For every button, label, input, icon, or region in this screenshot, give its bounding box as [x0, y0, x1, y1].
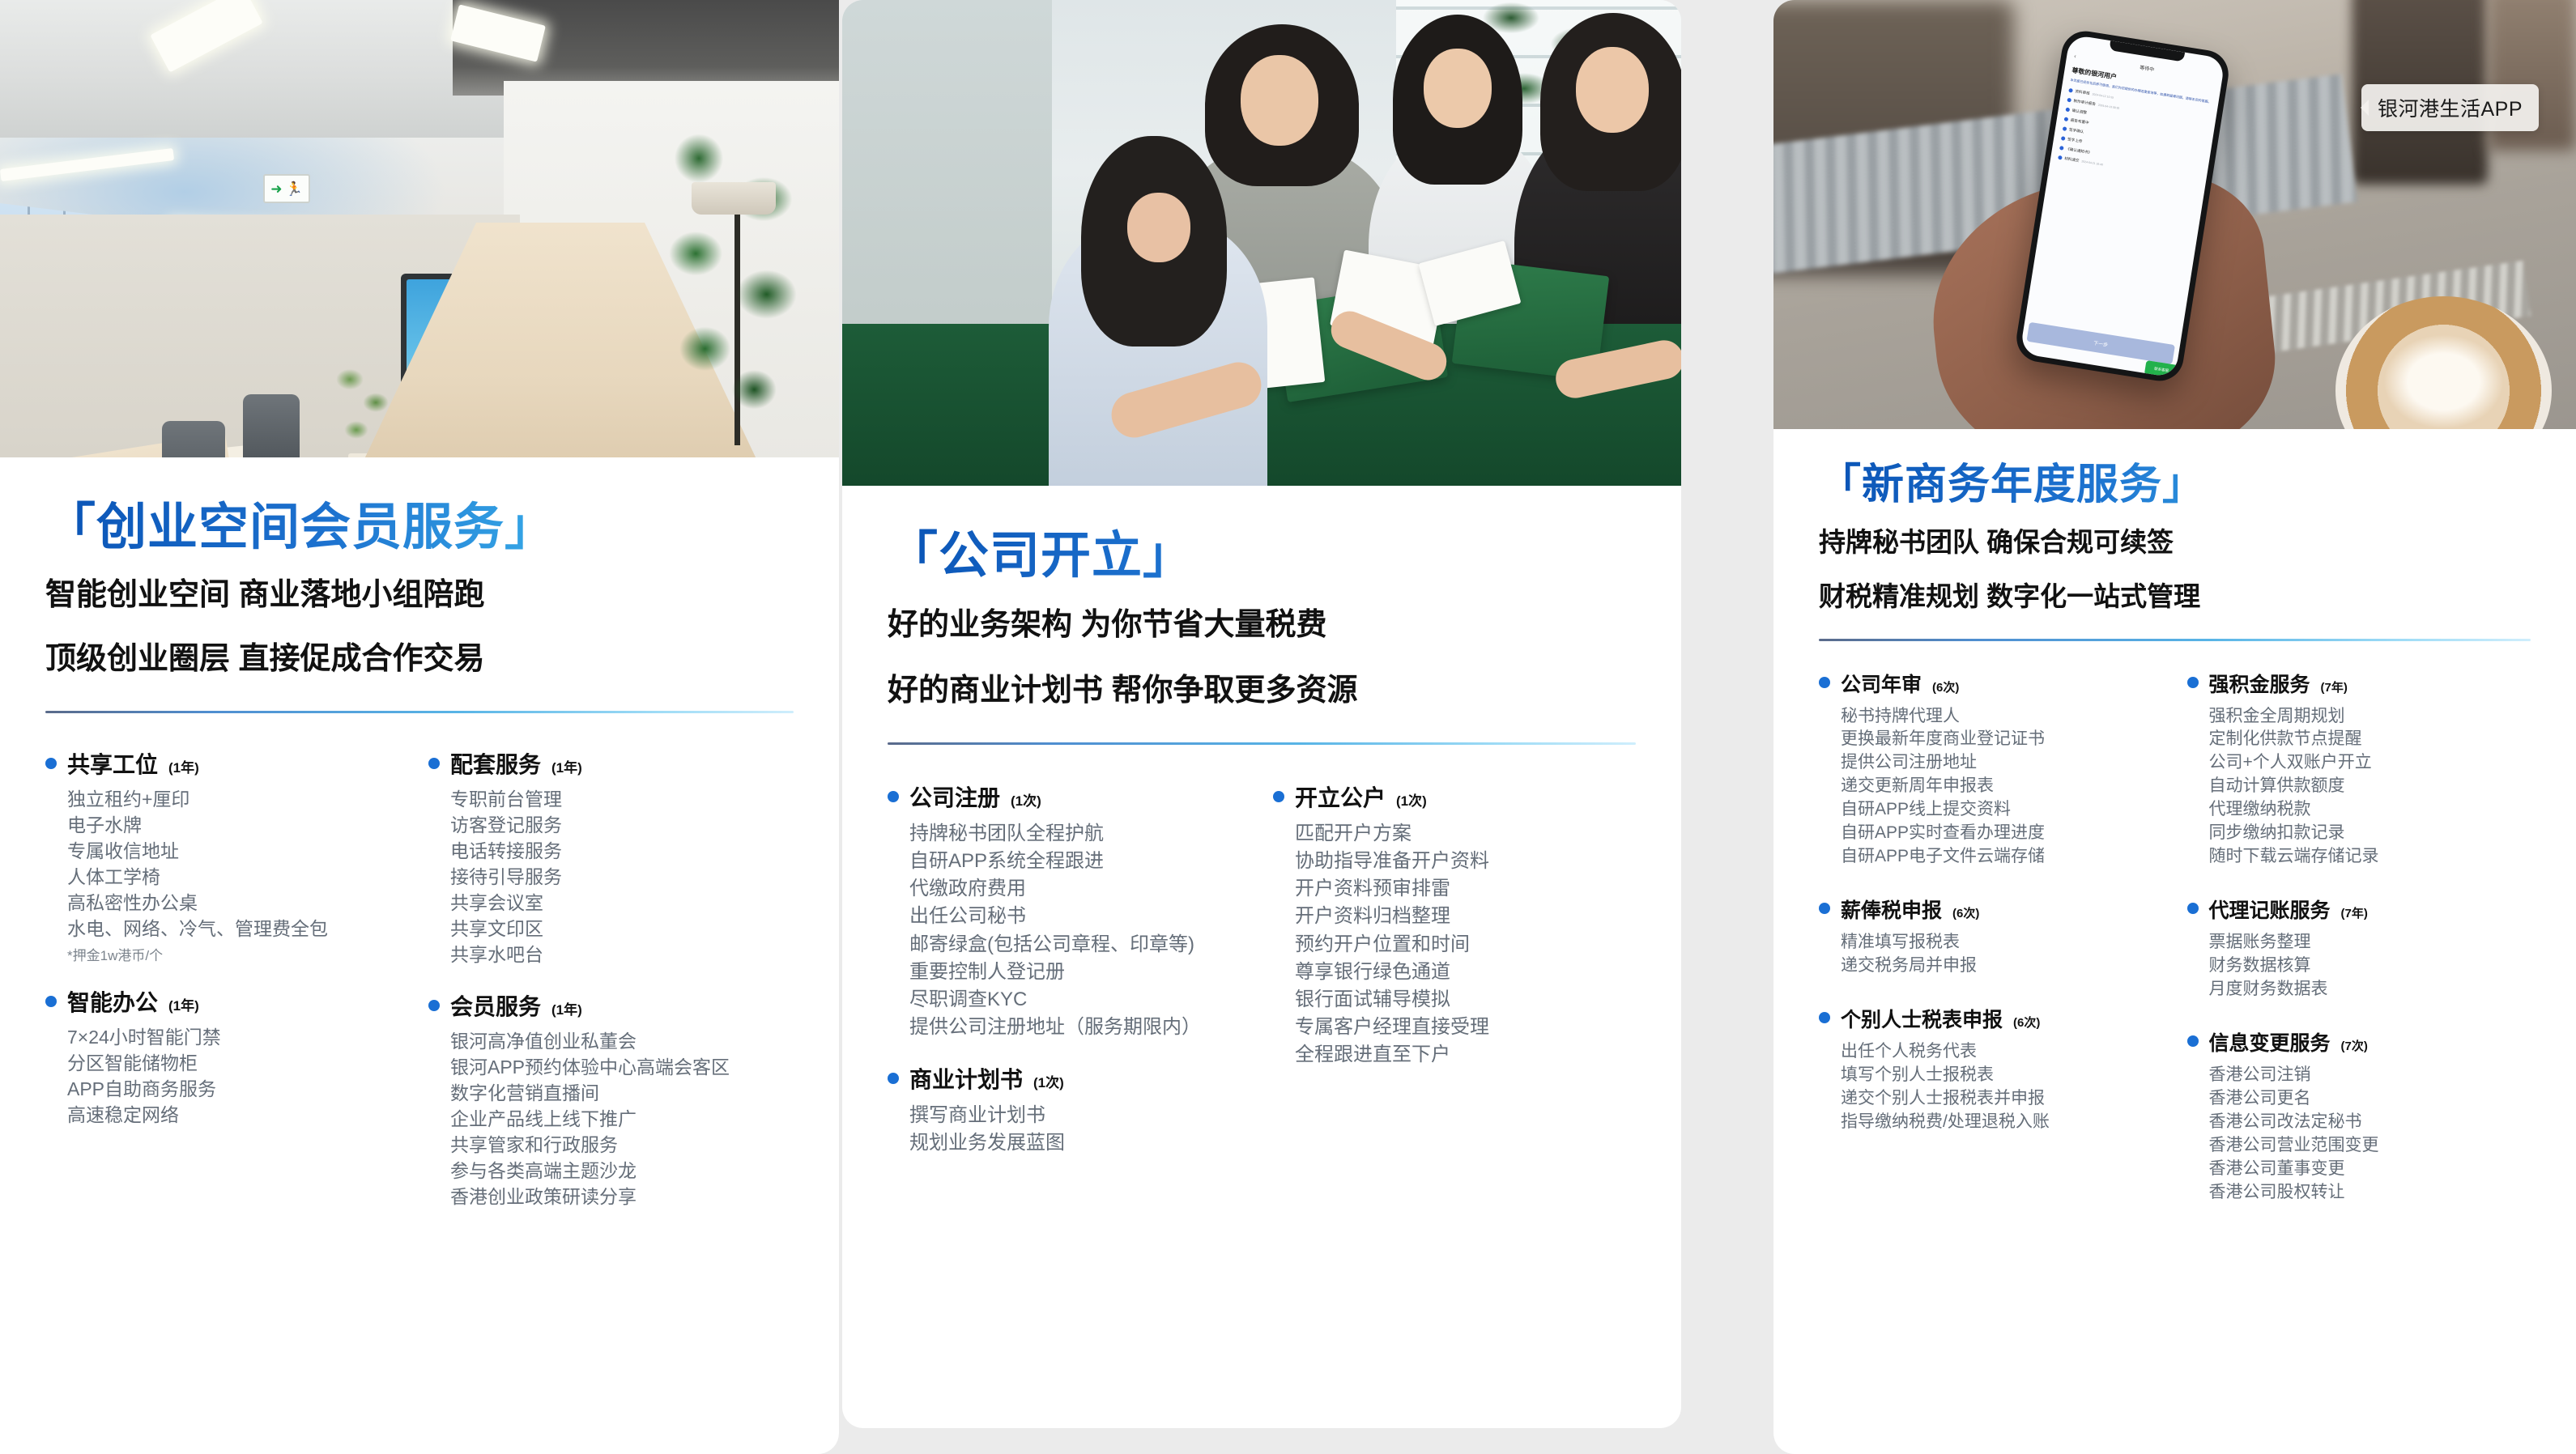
list-item: 精准填写报税表 — [1841, 931, 2163, 954]
phone-notch — [2109, 40, 2185, 62]
person-face — [1127, 193, 1190, 262]
list-item: 开户资料归档整理 — [1295, 903, 1636, 930]
list-item: 开户资料预审排雷 — [1295, 875, 1636, 903]
step-dot-icon — [2059, 146, 2064, 151]
list-item: 自动计算供款额度 — [2209, 775, 2531, 798]
card-subtitle-line-1: 持牌秘书团队 确保合规可续签 — [1819, 521, 2531, 563]
large-plant — [653, 97, 807, 437]
list-item: 银河高净值创业私董会 — [450, 1029, 794, 1055]
list-item: 尊享银行绿色通道 — [1295, 959, 1636, 986]
list-item: 预约开户位置和时间 — [1295, 931, 1636, 959]
group-items: 票据账务整理 财务数据核算 月度财务数据表 — [2187, 931, 2531, 1001]
card-subtitle-line-2: 财税精准规划 数字化一站式管理 — [1819, 576, 2531, 617]
step-label: 《确认通知书》 — [2066, 147, 2093, 155]
step-label: 报告布置中 — [2070, 117, 2089, 125]
group-items: 独立租约+厘印 电子水牌 专属收信地址 人体工学椅 高私密性办公桌 水电、网络、… — [45, 787, 411, 964]
bullet-dot-icon — [1819, 677, 1830, 688]
service-group: 公司年审 (6次) 秘书持牌代理人 更换最新年度商业登记证书 提供公司注册地址 … — [1819, 669, 2163, 869]
list-item: 企业产品线上线下推广 — [450, 1107, 794, 1133]
group-header: 信息变更服务 (7次) — [2187, 1027, 2531, 1056]
service-group: 薪俸税申报 (6次) 精准填写报税表 递交税务局并申报 — [1819, 895, 2163, 978]
large-plant-pot — [692, 182, 776, 215]
group-header: 会员服务 (1年) — [428, 989, 794, 1022]
group-items: 撰写商业计划书 规划业务发展蓝图 — [888, 1102, 1250, 1157]
step-dot-icon — [2063, 126, 2067, 131]
phone-support-button[interactable]: 联系客服 — [2144, 360, 2178, 378]
card-subtitle-line-2: 顶级创业圈层 直接促成合作交易 — [45, 636, 794, 683]
list-item: 高私密性办公桌 — [67, 891, 411, 916]
step-dot-icon — [2061, 136, 2066, 141]
card-title: 「创业空间会员服务」 — [45, 500, 794, 555]
list-item: 银河APP预约体验中心高端会客区 — [450, 1055, 794, 1081]
step-label: 签字确认 — [2069, 127, 2084, 134]
light-tube — [0, 148, 174, 181]
group-title: 公司年审 — [1841, 669, 1922, 698]
bullet-dot-icon — [1819, 1012, 1830, 1023]
list-item: 匹配开户方案 — [1295, 820, 1636, 848]
list-item: 香港公司股权转让 — [2209, 1181, 2531, 1205]
service-group: 信息变更服务 (7次) 香港公司注销 香港公司更名 香港公司改法定秘书 香港公司… — [2187, 1027, 2531, 1205]
list-item: 高速稳定网络 — [67, 1103, 411, 1129]
group-header: 共享工位 (1年) — [45, 747, 411, 780]
step-dot-icon — [2064, 117, 2069, 121]
group-header: 公司注册 (1次) — [888, 780, 1250, 813]
group-header: 强积金服务 (7年) — [2187, 669, 2531, 698]
cafe-photo-illustration: ‹ 等待中 尊敬的银河用户 本页面已经优化后即可使用，我们为您提供的办理进度查询… — [1773, 0, 2576, 429]
card-subtitle-line-1: 智能创业空间 商业落地小组陪跑 — [45, 572, 794, 619]
list-item: 分区智能储物柜 — [67, 1051, 411, 1077]
bullet-dot-icon — [428, 758, 440, 769]
list-item: 水电、网络、冷气、管理费全包 — [67, 916, 411, 942]
service-group: 商业计划书 (1次) 撰写商业计划书 规划业务发展蓝图 — [888, 1062, 1250, 1157]
list-item: 票据账务整理 — [2209, 931, 2531, 954]
group-title: 商业计划书 — [909, 1062, 1023, 1095]
list-item: 共享会议室 — [450, 891, 794, 916]
groups-column-left: 公司注册 (1次) 持牌秘书团队全程护航 自研APP系统全程跟进 代缴政府费用 … — [888, 780, 1250, 1178]
step-time: 2024-04-21 16:40 — [2081, 159, 2103, 166]
groups-column-right: 强积金服务 (7年) 强积金全周期规划 定制化供款节点提醒 公司+个人双账户开立… — [2187, 669, 2531, 1231]
bullet-dot-icon — [45, 758, 57, 769]
service-groups-grid: 共享工位 (1年) 独立租约+厘印 电子水牌 专属收信地址 人体工学椅 高私密性… — [45, 747, 794, 1231]
person-face — [1241, 55, 1318, 146]
group-count: (1年) — [168, 756, 199, 776]
bullet-dot-icon — [2187, 1035, 2199, 1047]
group-title: 强积金服务 — [2209, 669, 2310, 698]
group-header: 开立公户 (1次) — [1273, 780, 1636, 813]
step-label: 制作审计报告 — [2073, 98, 2096, 106]
list-item: 香港公司营业范围变更 — [2209, 1134, 2531, 1158]
section-divider — [888, 742, 1636, 745]
card-photo-team-documents — [842, 0, 1681, 486]
group-header: 商业计划书 (1次) — [888, 1062, 1250, 1095]
bullet-dot-icon — [1819, 903, 1830, 914]
list-item: 自研APP线上提交资料 — [1841, 798, 2163, 822]
list-item: 专职前台管理 — [450, 787, 794, 813]
group-title: 开立公户 — [1295, 780, 1386, 813]
card-photo-phone-app: ‹ 等待中 尊敬的银河用户 本页面已经优化后即可使用，我们为您提供的办理进度查询… — [1773, 0, 2576, 429]
list-item: 共享水吧台 — [450, 942, 794, 968]
section-divider — [1819, 639, 2531, 641]
list-item: 代缴政府费用 — [909, 875, 1250, 903]
list-item: 自研APP系统全程跟进 — [909, 848, 1250, 875]
step-time: 2024-04-12 10:15 — [2092, 92, 2114, 99]
bullet-dot-icon — [1273, 791, 1284, 802]
group-items: 持牌秘书团队全程护航 自研APP系统全程跟进 代缴政府费用 出任公司秘书 邮寄绿… — [888, 820, 1250, 1041]
list-item: 自研APP实时查看办理进度 — [1841, 822, 2163, 845]
list-item: 同步缴纳扣款记录 — [2209, 822, 2531, 845]
service-group: 个别人士税表申报 (6次) 出任个人税务代表 填写个别人士报税表 递交个别人士报… — [1819, 1004, 2163, 1134]
group-header: 薪俸税申报 (6次) — [1819, 895, 2163, 924]
service-card-company-incorporation: 「公司开立」 好的业务架构 为你节省大量税费 好的商业计划书 帮你争取更多资源 … — [842, 0, 1681, 1428]
service-group: 代理记账服务 (7年) 票据账务整理 财务数据核算 月度财务数据表 — [2187, 895, 2531, 1001]
list-item: 公司+个人双账户开立 — [2209, 751, 2531, 775]
group-items: 香港公司注销 香港公司更名 香港公司改法定秘书 香港公司营业范围变更 香港公司董… — [2187, 1064, 2531, 1205]
list-item: 递交税务局并申报 — [1841, 954, 2163, 978]
group-header: 个别人士税表申报 (6次) — [1819, 1004, 2163, 1033]
group-items: 秘书持牌代理人 更换最新年度商业登记证书 提供公司注册地址 递交更新周年申报表 … — [1819, 705, 2163, 869]
group-count: (6次) — [2013, 1014, 2040, 1031]
list-item: 持牌秘书团队全程护航 — [909, 820, 1250, 848]
list-item: 参与各类高端主题沙龙 — [450, 1159, 794, 1184]
list-item: 银行面试辅导模拟 — [1295, 986, 1636, 1014]
list-item: 自研APP电子文件云端存储 — [1841, 845, 2163, 869]
list-item: 提供公司注册地址 — [1841, 751, 2163, 775]
group-count: (7年) — [2321, 678, 2348, 695]
group-header: 公司年审 (6次) — [1819, 669, 2163, 698]
card-subtitle-line-1: 好的业务架构 为你节省大量税费 — [888, 602, 1636, 649]
service-group: 智能办公 (1年) 7×24小时智能门禁 分区智能储物柜 APP自助商务服务 高… — [45, 985, 411, 1129]
step-label: 材料递交 — [2064, 156, 2080, 164]
list-item: 协助指导准备开户资料 — [1295, 848, 1636, 875]
back-icon[interactable]: ‹ — [2074, 53, 2076, 59]
service-groups-grid: 公司注册 (1次) 持牌秘书团队全程护航 自研APP系统全程跟进 代缴政府费用 … — [888, 780, 1636, 1178]
step-label: 确认调整 — [2071, 108, 2087, 115]
list-item: 重要控制人登记册 — [909, 959, 1250, 986]
group-count: (1次) — [1033, 1071, 1064, 1091]
list-item: 共享管家和行政服务 — [450, 1133, 794, 1159]
list-item: 撰写商业计划书 — [909, 1102, 1250, 1129]
group-header: 智能办公 (1年) — [45, 985, 411, 1018]
group-title: 代理记账服务 — [2209, 895, 2331, 924]
group-note: *押金1w港币/个 — [67, 944, 411, 964]
list-item: 香港公司董事变更 — [2209, 1158, 2531, 1181]
list-item: 7×24小时智能门禁 — [67, 1025, 411, 1051]
list-item: 电子水牌 — [67, 813, 411, 839]
groups-column-left: 公司年审 (6次) 秘书持牌代理人 更换最新年度商业登记证书 提供公司注册地址 … — [1819, 669, 2163, 1231]
group-count: (1年) — [551, 756, 582, 776]
list-item: 随时下载云端存储记录 — [2209, 845, 2531, 869]
group-count: (1次) — [1396, 789, 1427, 810]
step-dot-icon — [2065, 108, 2070, 113]
group-title: 个别人士税表申报 — [1841, 1004, 2003, 1033]
group-title: 薪俸税申报 — [1841, 895, 1942, 924]
card-body: 「新商务年度服务」 持牌秘书团队 确保合规可续签 财税精准规划 数字化一站式管理… — [1773, 429, 2576, 1231]
group-title: 配套服务 — [450, 747, 541, 780]
service-group: 会员服务 (1年) 银河高净值创业私董会 银河APP预约体验中心高端会客区 数字… — [428, 989, 794, 1210]
list-item: 数字化营销直播间 — [450, 1081, 794, 1107]
group-items: 专职前台管理 访客登记服务 电话转接服务 接待引导服务 共享会议室 共享文印区 … — [428, 787, 794, 968]
group-count: (1次) — [1011, 789, 1041, 810]
list-item: 月度财务数据表 — [2209, 978, 2531, 1001]
groups-column-right: 配套服务 (1年) 专职前台管理 访客登记服务 电话转接服务 接待引导服务 共享… — [428, 747, 794, 1231]
phone-primary-button[interactable]: 下一步 — [2026, 322, 2175, 364]
list-item: 访客登记服务 — [450, 813, 794, 839]
step-label: 资料审核 — [2075, 89, 2090, 96]
exit-sign-icon: ➜🏃 — [263, 174, 310, 203]
left-wall — [842, 0, 1052, 340]
group-count: (7次) — [2341, 1037, 2368, 1054]
step-dot-icon — [2067, 98, 2071, 103]
group-header: 代理记账服务 (7年) — [2187, 895, 2531, 924]
list-item: 香港公司改法定秘书 — [2209, 1111, 2531, 1134]
person-face — [1576, 47, 1649, 133]
service-card-new-business-annual: ‹ 等待中 尊敬的银河用户 本页面已经优化后即可使用，我们为您提供的办理进度查询… — [1773, 0, 2576, 1454]
groups-column-left: 共享工位 (1年) 独立租约+厘印 电子水牌 专属收信地址 人体工学椅 高私密性… — [45, 747, 411, 1231]
card-photo-office: ➜🏃 16:32 2024年6月 星期三 — [0, 0, 839, 457]
list-item: 代理缴纳税款 — [2209, 798, 2531, 822]
list-item: 更换最新年度商业登记证书 — [1841, 728, 2163, 751]
person-face — [1424, 49, 1492, 128]
list-item: 专属客户经理直接受理 — [1295, 1014, 1636, 1041]
list-item: 香港创业政策研读分享 — [450, 1184, 794, 1210]
step-label: 签字上传 — [2067, 137, 2083, 144]
list-item: 递交个别人士报税表并申报 — [1841, 1087, 2163, 1111]
list-item: 专属收信地址 — [67, 839, 411, 865]
office-chair — [243, 394, 300, 457]
list-item: 填写个别人士报税表 — [1841, 1064, 2163, 1087]
list-item: 递交更新周年申报表 — [1841, 775, 2163, 798]
group-items: 银河高净值创业私董会 银河APP预约体验中心高端会客区 数字化营销直播间 企业产… — [428, 1029, 794, 1210]
step-dot-icon — [2058, 155, 2063, 160]
card-body: 「创业空间会员服务」 智能创业空间 商业落地小组陪跑 顶级创业圈层 直接促成合作… — [0, 457, 839, 1231]
promo-cards-stage: ➜🏃 16:32 2024年6月 星期三 — [0, 0, 2576, 1454]
service-group: 开立公户 (1次) 匹配开户方案 协助指导准备开户资料 开户资料预审排雷 开户资… — [1273, 780, 1636, 1069]
list-item: 秘书持牌代理人 — [1841, 705, 2163, 729]
step-dot-icon — [2068, 88, 2073, 93]
office-photo-illustration: ➜🏃 16:32 2024年6月 星期三 — [0, 0, 839, 457]
bullet-dot-icon — [2187, 677, 2199, 688]
bullet-dot-icon — [428, 1000, 440, 1011]
group-title: 共享工位 — [67, 747, 158, 780]
card-subtitle-line-2: 好的商业计划书 帮你争取更多资源 — [888, 667, 1636, 715]
list-item: 独立租约+厘印 — [67, 787, 411, 813]
list-item: 电话转接服务 — [450, 839, 794, 865]
group-count: (6次) — [1932, 678, 1959, 695]
card-body: 「公司开立」 好的业务架构 为你节省大量税费 好的商业计划书 帮你争取更多资源 … — [842, 486, 1681, 1178]
service-group: 共享工位 (1年) 独立租约+厘印 电子水牌 专属收信地址 人体工学椅 高私密性… — [45, 747, 411, 964]
group-items: 匹配开户方案 协助指导准备开户资料 开户资料预审排雷 开户资料归档整理 预约开户… — [1273, 820, 1636, 1069]
service-group: 强积金服务 (7年) 强积金全周期规划 定制化供款节点提醒 公司+个人双账户开立… — [2187, 669, 2531, 869]
list-item: APP自助商务服务 — [67, 1077, 411, 1103]
group-header: 配套服务 (1年) — [428, 747, 794, 780]
list-item: 提供公司注册地址（服务期限内） — [909, 1014, 1250, 1041]
bullet-dot-icon — [45, 996, 57, 1007]
group-count: (1年) — [551, 998, 582, 1018]
group-count: (7年) — [2341, 904, 2368, 921]
group-title: 公司注册 — [909, 780, 1000, 813]
list-item: 出任公司秘书 — [909, 903, 1250, 930]
step-time: 2024-04-13 09:30 — [2097, 103, 2119, 109]
team-photo-illustration — [842, 0, 1681, 486]
card-title: 「新商务年度服务」 — [1819, 461, 2531, 508]
service-group: 公司注册 (1次) 持牌秘书团队全程护航 自研APP系统全程跟进 代缴政府费用 … — [888, 780, 1250, 1041]
list-item: 香港公司更名 — [2209, 1087, 2531, 1111]
list-item: 规划业务发展蓝图 — [909, 1129, 1250, 1157]
service-groups-grid: 公司年审 (6次) 秘书持牌代理人 更换最新年度商业登记证书 提供公司注册地址 … — [1819, 669, 2531, 1231]
list-item: 邮寄绿盒(包括公司章程、印章等) — [909, 931, 1250, 959]
list-item: 定制化供款节点提醒 — [2209, 728, 2531, 751]
list-item: 接待引导服务 — [450, 865, 794, 891]
group-count: (6次) — [1952, 904, 1979, 921]
list-item: 全程跟进直至下户 — [1295, 1041, 1636, 1069]
section-divider — [45, 711, 794, 713]
group-items: 强积金全周期规划 定制化供款节点提醒 公司+个人双账户开立 自动计算供款额度 代… — [2187, 705, 2531, 869]
bullet-dot-icon — [888, 1073, 899, 1084]
list-item: 财务数据核算 — [2209, 954, 2531, 978]
group-items: 出任个人税务代表 填写个别人士报税表 递交个别人士报税表并申报 指导缴纳税费/处… — [1819, 1040, 2163, 1134]
list-item: 指导缴纳税费/处理退税入账 — [1841, 1111, 2163, 1134]
list-item: 香港公司注销 — [2209, 1064, 2531, 1087]
bullet-dot-icon — [888, 791, 899, 802]
group-items: 7×24小时智能门禁 分区智能储物柜 APP自助商务服务 高速稳定网络 — [45, 1025, 411, 1129]
group-items: 精准填写报税表 递交税务局并申报 — [1819, 931, 2163, 978]
app-name-badge: 银河港生活APP — [2361, 84, 2539, 131]
list-item: 出任个人税务代表 — [1841, 1040, 2163, 1064]
service-group: 配套服务 (1年) 专职前台管理 访客登记服务 电话转接服务 接待引导服务 共享… — [428, 747, 794, 968]
card-title: 「公司开立」 — [888, 528, 1636, 584]
latte-art — [2383, 334, 2504, 429]
phone-progress-steps: 资料审核 2024-04-12 10:15 制作审计报告 2024-04-13 … — [2058, 87, 2210, 181]
group-title: 会员服务 — [450, 989, 541, 1022]
list-item: 人体工学椅 — [67, 865, 411, 891]
groups-column-right: 开立公户 (1次) 匹配开户方案 协助指导准备开户资料 开户资料预审排雷 开户资… — [1273, 780, 1636, 1178]
list-item: 强积金全周期规划 — [2209, 705, 2531, 729]
list-item: 尽职调查KYC — [909, 986, 1250, 1014]
list-item: 共享文印区 — [450, 916, 794, 942]
group-title: 智能办公 — [67, 985, 158, 1018]
office-chair — [162, 421, 225, 457]
group-count: (1年) — [168, 994, 199, 1014]
service-card-entrepreneur-space: ➜🏃 16:32 2024年6月 星期三 — [0, 0, 839, 1454]
bullet-dot-icon — [2187, 903, 2199, 914]
group-title: 信息变更服务 — [2209, 1027, 2331, 1056]
